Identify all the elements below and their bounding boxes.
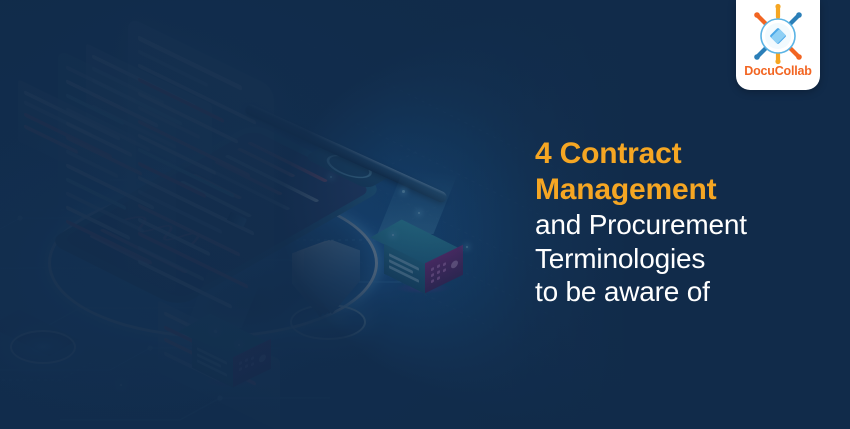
banner: 4 Contract Management and Procurement Te… (0, 0, 850, 429)
headline-line-5: to be aware of (535, 275, 835, 309)
logo[interactable]: DocuCollab (736, 0, 820, 90)
page-title: 4 Contract Management and Procurement Te… (535, 136, 835, 309)
hub-spoke-document-icon (745, 3, 811, 67)
headline-line-3: and Procurement (535, 208, 835, 242)
headline-line-2: Management (535, 172, 835, 208)
headline-line-4: Terminologies (535, 242, 835, 276)
headline-line-1: 4 Contract (535, 136, 835, 172)
